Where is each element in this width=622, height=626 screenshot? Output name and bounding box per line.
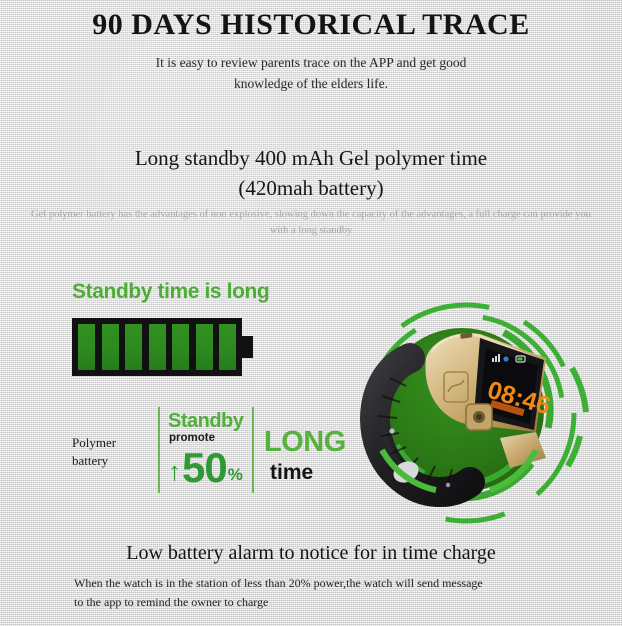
percent-sign: %: [228, 460, 243, 490]
battery-cell: [78, 324, 95, 370]
product-infographic-page: 90 DAYS HISTORICAL TRACE It is easy to r…: [0, 0, 622, 626]
page-title: 90 DAYS HISTORICAL TRACE: [0, 8, 622, 42]
standby-promote-subtitle: promote: [169, 432, 215, 444]
standby-promote-title: Standby: [168, 410, 243, 433]
hero-subtitle: It is easy to review parents trace on th…: [0, 52, 622, 94]
battery-cell: [149, 324, 166, 370]
polymer-battery-label-line2: battery: [72, 452, 150, 470]
percent-number: 50: [182, 446, 227, 490]
standby-time-heading: Standby time is long: [72, 280, 269, 304]
battery-cell: [219, 324, 236, 370]
standby-claim-title-line2: (420mah battery): [0, 173, 622, 203]
low-battery-alarm-title: Low battery alarm to notice for in time …: [0, 542, 622, 565]
battery-cell: [102, 324, 119, 370]
standby-promote-value: ↑ 50 %: [168, 446, 243, 490]
standby-claim-description: Gel polymer battery has the advantages o…: [30, 207, 592, 239]
battery-cell: [196, 324, 213, 370]
stats-row: Polymer battery Standby promote ↑ 50 % L…: [72, 404, 344, 496]
battery-icon: [72, 318, 254, 376]
long-time-subtitle: time: [270, 461, 313, 485]
up-arrow-icon: ↑: [168, 452, 181, 490]
standby-claim-title-line1: Long standby 400 mAh Gel polymer time: [0, 143, 622, 173]
battery-cell: [125, 324, 142, 370]
stats-divider: [252, 407, 254, 493]
smartwatch-graphic: 08:46: [340, 300, 608, 530]
low-battery-alarm-description-line2: to the app to remind the owner to charge: [74, 593, 554, 612]
stats-divider: [158, 407, 160, 493]
battery-terminal: [242, 336, 253, 358]
low-battery-alarm-description-line1: When the watch is in the station of less…: [74, 574, 554, 593]
standby-claim-description-line1: Gel polymer battery has the advantages o…: [31, 209, 538, 220]
low-battery-alarm-description: When the watch is in the station of less…: [74, 574, 554, 612]
long-time-title: LONG: [264, 426, 346, 459]
hero-subtitle-line1: It is easy to review parents trace on th…: [0, 52, 622, 73]
battery-cell: [172, 324, 189, 370]
polymer-battery-label-line1: Polymer: [72, 434, 150, 452]
battery-body: [72, 318, 242, 376]
standby-claim-title: Long standby 400 mAh Gel polymer time (4…: [0, 143, 622, 203]
hero-subtitle-line2: knowledge of the elders life.: [0, 73, 622, 94]
polymer-battery-label: Polymer battery: [72, 434, 150, 470]
